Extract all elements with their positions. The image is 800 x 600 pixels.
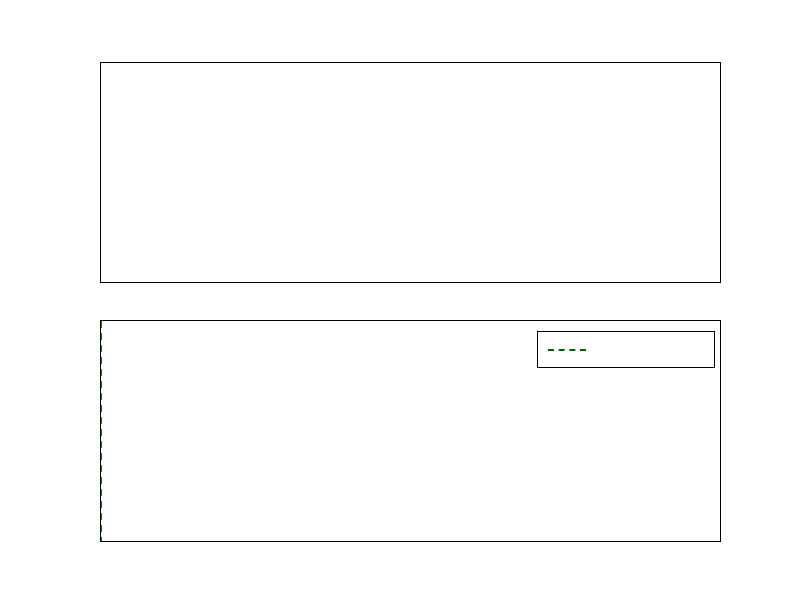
matplotlib-figure: [0, 0, 800, 600]
top-histogram-axes: [100, 62, 721, 283]
mag-limit-legend-swatch: [548, 349, 586, 351]
legend-box[interactable]: [537, 331, 715, 368]
